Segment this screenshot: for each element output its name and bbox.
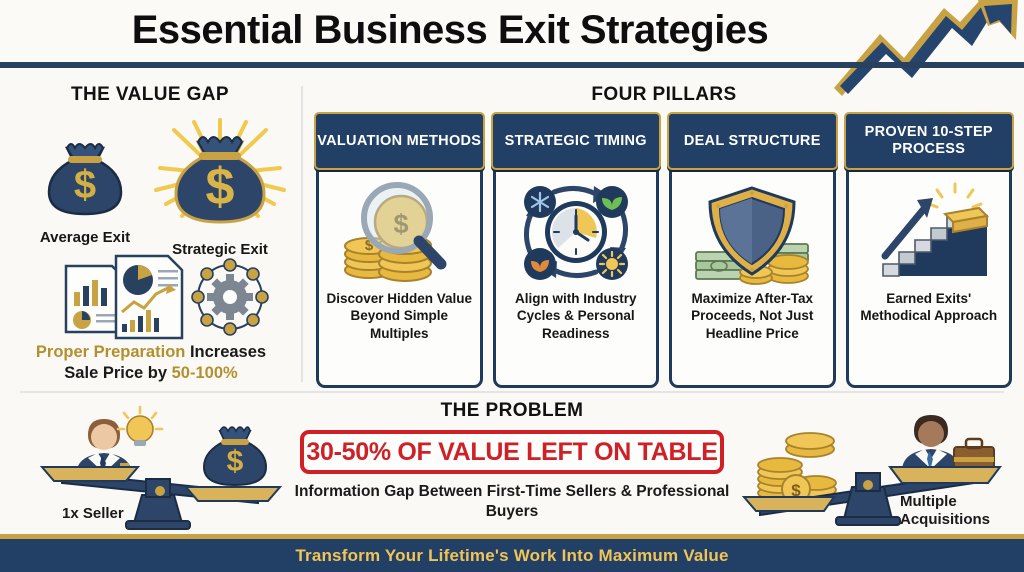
footer-banner: Transform Your Lifetime's Work Into Maxi… — [0, 539, 1024, 572]
svg-text:$: $ — [227, 445, 244, 478]
svg-text:$: $ — [74, 163, 96, 207]
value-gap-bags: $ Average Exit — [0, 116, 300, 266]
problem-callout-badge: 30-50% OF VALUE LEFT ON TABLE — [300, 430, 724, 474]
four-pillars-heading: FOUR PILLARS — [304, 84, 1024, 106]
pillar-card-strategic-timing[interactable]: STRATEGIC TIMING — [493, 112, 660, 388]
acquirer-label: Multiple Acquisitions — [900, 493, 1010, 529]
pillar-caption: Discover Hidden Value Beyond Simple Mult… — [319, 288, 480, 385]
svg-text:$: $ — [206, 158, 235, 216]
pillar-caption: Align with Industry Cycles & Personal Re… — [496, 288, 657, 385]
value-gap-panel: THE VALUE GAP $ Average Exit — [0, 72, 300, 390]
caption-rest-1: Increases — [185, 343, 266, 361]
pillar-caption: Maximize After-Tax Proceeds, Not Just He… — [672, 288, 833, 385]
money-bag-glowing-icon: $ — [154, 116, 286, 234]
problem-heading: THE PROBLEM — [284, 400, 740, 422]
pillar-card-deal-structure[interactable]: DEAL STRUCTURE — [669, 112, 836, 388]
infographic-canvas: Essential Business Exit Strategies THE V… — [0, 0, 1024, 572]
average-exit-block: $ Average Exit — [24, 126, 146, 246]
value-gap-caption: Proper Preparation Increases Sale Price … — [10, 342, 292, 385]
strategic-exit-block: $ Strategic Exit — [150, 116, 290, 258]
pillar-title: DEAL STRUCTURE — [667, 112, 838, 170]
magnifier-coins-icon: $ $ — [319, 170, 480, 288]
average-exit-label: Average Exit — [24, 229, 146, 246]
header-divider — [0, 62, 1024, 68]
clock-seasons-cycle-icon — [496, 170, 657, 288]
staircase-arrow-gold-icon — [849, 170, 1010, 288]
caption-gold-2: 50-100% — [172, 364, 238, 382]
caption-line-1: Proper Preparation Increases — [10, 342, 292, 363]
balance-scale-acquirer-icon: $ — [738, 401, 1018, 531]
value-gap-heading: THE VALUE GAP — [0, 84, 300, 106]
pillar-title: PROVEN 10-STEP PROCESS — [844, 112, 1015, 170]
vertical-divider — [301, 86, 303, 382]
horizontal-divider — [20, 391, 1004, 393]
caption-line-2: Sale Price by 50-100% — [10, 363, 292, 384]
pillar-row: VALUATION METHODS $ — [304, 112, 1024, 388]
problem-block: THE PROBLEM 30-50% OF VALUE LEFT ON TABL… — [284, 395, 740, 530]
header: Essential Business Exit Strategies — [0, 0, 1024, 62]
pillar-title: STRATEGIC TIMING — [491, 112, 662, 170]
balance-scale-seller-icon: $ 1x Seller — [14, 401, 284, 531]
shield-cash-coins-icon — [672, 170, 833, 288]
seller-label: 1x Seller — [62, 505, 124, 523]
problem-section: $ 1x Seller THE PROBLEM 30-50% — [0, 395, 1024, 535]
four-pillars-section: FOUR PILLARS VALUATION METHODS — [304, 72, 1024, 390]
documents-charts-gear-icon — [52, 250, 272, 345]
money-bag-icon: $ — [37, 126, 133, 222]
footer-tagline: Transform Your Lifetime's Work Into Maxi… — [295, 546, 728, 566]
pillar-title: VALUATION METHODS — [314, 112, 485, 170]
pillar-caption: Earned Exits' Methodical Approach — [849, 288, 1010, 385]
caption-gold-1: Proper Preparation — [36, 343, 185, 361]
pillar-card-valuation-methods[interactable]: VALUATION METHODS $ — [316, 112, 483, 388]
pillar-card-proven-process[interactable]: PROVEN 10-STEP PROCESS — [846, 112, 1013, 388]
caption-rest-2: Sale Price by — [64, 364, 171, 382]
page-title: Essential Business Exit Strategies — [0, 4, 900, 56]
problem-subtext: Information Gap Between First-Time Selle… — [284, 482, 740, 522]
